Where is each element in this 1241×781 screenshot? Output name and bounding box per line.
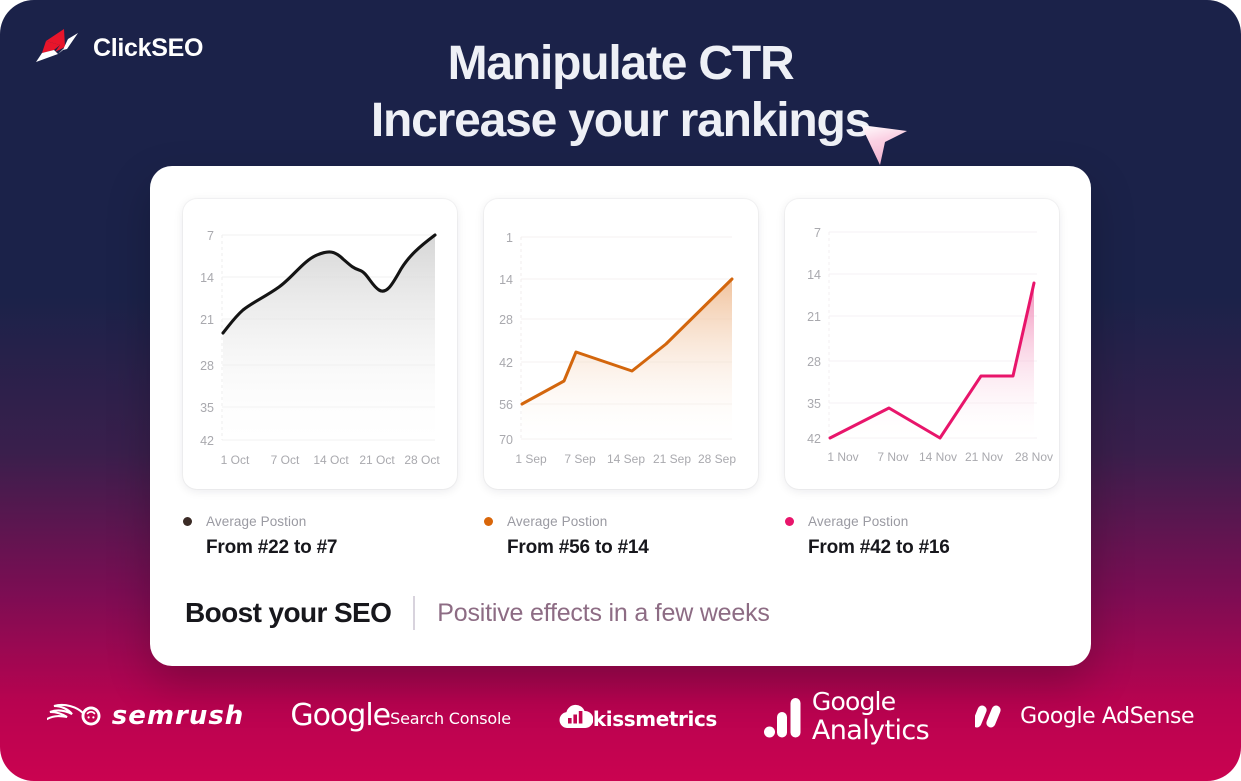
legend-label: Average Postion <box>206 514 306 529</box>
svg-text:1 Nov: 1 Nov <box>827 450 858 464</box>
legend-label: Average Postion <box>808 514 908 529</box>
svg-text:14 Nov: 14 Nov <box>919 450 957 464</box>
kissmetrics-wordmark: kissmetrics <box>593 709 717 729</box>
svg-text:1 Oct: 1 Oct <box>221 453 250 467</box>
x-axis-labels-2: 1 Sep 7 Sep 14 Sep 21 Sep 28 Sep <box>515 452 736 466</box>
legend-dot-icon <box>183 517 192 526</box>
semrush-flame-icon <box>47 703 103 729</box>
svg-text:1: 1 <box>506 231 513 245</box>
x-axis-labels-1: 1 Oct 7 Oct 14 Oct 21 Oct 28 Oct <box>221 453 441 467</box>
chart-card-october[interactable]: 7 14 21 28 35 42 1 Oct 7 Oct 14 Oct 21 O… <box>183 199 457 489</box>
charts-row: 7 14 21 28 35 42 1 Oct 7 Oct 14 Oct 21 O… <box>183 199 1059 489</box>
svg-text:14: 14 <box>807 268 821 282</box>
partner-semrush[interactable]: semrush <box>47 701 245 731</box>
promo-banner: ClickSEO Manipulate CTR Increase your ra… <box>0 0 1241 781</box>
svg-text:21: 21 <box>807 310 821 324</box>
legend-block-1: Average Postion From #22 to #7 <box>183 512 457 572</box>
svg-text:70: 70 <box>499 433 513 447</box>
svg-text:21 Sep: 21 Sep <box>653 452 691 466</box>
page-title: Manipulate CTR Increase your rankings <box>0 36 1241 149</box>
legend-block-2: Average Postion From #56 to #14 <box>484 512 758 572</box>
gsc-line-1: Google <box>290 701 390 731</box>
svg-text:28: 28 <box>807 355 821 369</box>
legends-row: Average Postion From #22 to #7 Average P… <box>183 512 1059 572</box>
area-chart-1: 7 14 21 28 35 42 1 Oct 7 Oct 14 Oct 21 O… <box>183 199 457 489</box>
svg-text:7 Sep: 7 Sep <box>564 452 596 466</box>
svg-text:21 Oct: 21 Oct <box>359 453 395 467</box>
svg-text:56: 56 <box>499 398 513 412</box>
partner-google-adsense[interactable]: Google AdSense <box>975 703 1194 729</box>
svg-text:28 Sep: 28 Sep <box>698 452 736 466</box>
legend-value: From #56 to #14 <box>507 537 758 559</box>
x-axis-labels-3: 1 Nov 7 Nov 14 Nov 21 Nov 28 Nov <box>827 450 1053 464</box>
svg-text:21 Nov: 21 Nov <box>965 450 1003 464</box>
adsense-wordmark: Google AdSense <box>1020 704 1194 729</box>
svg-text:42: 42 <box>200 434 214 448</box>
chart-card-november[interactable]: 7 14 21 28 35 42 1 Nov 7 Nov 14 Nov 21 N… <box>785 199 1059 489</box>
svg-text:28 Oct: 28 Oct <box>404 453 440 467</box>
svg-text:35: 35 <box>200 401 214 415</box>
partner-google-search-console[interactable]: Google Search Console <box>290 701 511 731</box>
y-axis-labels-1: 7 14 21 28 35 42 <box>200 229 214 448</box>
svg-text:42: 42 <box>499 356 513 370</box>
svg-text:28: 28 <box>499 313 513 327</box>
svg-text:28 Nov: 28 Nov <box>1015 450 1053 464</box>
area-chart-3: 7 14 21 28 35 42 1 Nov 7 Nov 14 Nov 21 N… <box>785 199 1059 489</box>
cta-strong: Boost your SEO <box>185 597 391 629</box>
y-axis-labels-3: 7 14 21 28 35 42 <box>807 226 821 446</box>
vertical-divider <box>413 596 415 630</box>
svg-text:14: 14 <box>200 271 214 285</box>
svg-text:42: 42 <box>807 432 821 446</box>
partner-google-analytics[interactable]: Google Analytics <box>763 689 929 744</box>
area-fill-2 <box>522 279 732 439</box>
svg-text:1 Sep: 1 Sep <box>515 452 547 466</box>
chart-card-september[interactable]: 1 14 28 42 56 70 1 Sep 7 Sep 14 Sep 21 S… <box>484 199 758 489</box>
headline-line-1: Manipulate CTR <box>448 37 794 90</box>
kissmetrics-cloud-bars-icon <box>557 701 593 731</box>
ga-line-1: Google <box>812 689 929 714</box>
cta-line: Boost your SEO Positive effects in a few… <box>185 596 770 630</box>
svg-text:7 Nov: 7 Nov <box>877 450 908 464</box>
partner-kissmetrics[interactable]: kissmetrics <box>557 701 717 731</box>
cta-soft: Positive effects in a few weeks <box>437 599 769 628</box>
legend-dot-icon <box>484 517 493 526</box>
svg-text:14 Sep: 14 Sep <box>607 452 645 466</box>
area-chart-2: 1 14 28 42 56 70 1 Sep 7 Sep 14 Sep 21 S… <box>484 199 758 489</box>
legend-value: From #22 to #7 <box>206 537 457 559</box>
adsense-slashes-icon <box>975 703 1009 729</box>
svg-text:7: 7 <box>814 226 821 240</box>
mouse-cursor-down-icon <box>858 118 910 166</box>
stats-panel: 7 14 21 28 35 42 1 Oct 7 Oct 14 Oct 21 O… <box>150 166 1091 666</box>
svg-text:7: 7 <box>207 229 214 243</box>
semrush-wordmark: semrush <box>112 701 245 731</box>
legend-label: Average Postion <box>507 514 607 529</box>
headline-line-2: Increase your rankings <box>0 93 1241 150</box>
ga-line-2: Analytics <box>812 717 929 744</box>
svg-text:35: 35 <box>807 397 821 411</box>
svg-text:28: 28 <box>200 359 214 373</box>
google-analytics-bars-icon <box>763 693 803 739</box>
legend-value: From #42 to #16 <box>808 537 1059 559</box>
legend-block-3: Average Postion From #42 to #16 <box>785 512 1059 572</box>
svg-text:14 Oct: 14 Oct <box>313 453 349 467</box>
partner-logos: semrush Google Search Console kissmetric… <box>0 676 1241 756</box>
gsc-line-2: Search Console <box>390 711 511 727</box>
y-axis-labels-2: 1 14 28 42 56 70 <box>499 231 513 447</box>
svg-text:14: 14 <box>499 273 513 287</box>
svg-text:7 Oct: 7 Oct <box>271 453 300 467</box>
legend-dot-icon <box>785 517 794 526</box>
svg-text:21: 21 <box>200 313 214 327</box>
